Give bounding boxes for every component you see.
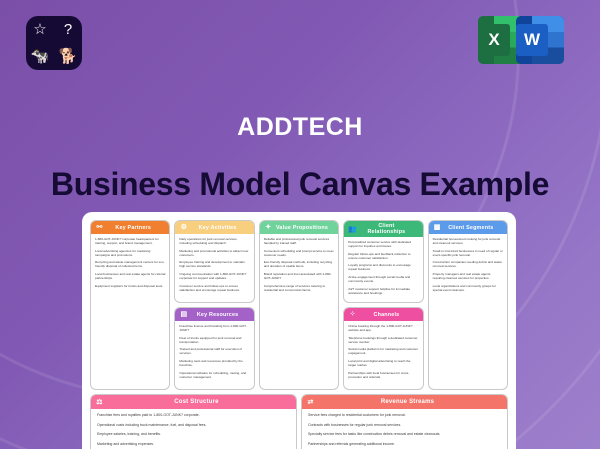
block-channels[interactable]: ⁘ChannelsOnline booking through the 1-80… bbox=[343, 307, 423, 390]
handshake-icon: ⚯ bbox=[95, 223, 104, 232]
block-item: Convenient scheduling and prompt service… bbox=[264, 249, 334, 257]
block-title: Revenue Streams bbox=[318, 399, 503, 405]
block-header-channels: ⁘Channels bbox=[344, 308, 422, 321]
block-item: Franchise fees and royalties paid to 1-8… bbox=[97, 413, 290, 418]
block-key-activities[interactable]: ⚙Key ActivitiesDaily operations for junk… bbox=[174, 220, 254, 303]
block-revenue-streams[interactable]: ⇄Revenue StreamsService fees charged to … bbox=[301, 394, 508, 449]
brand-logo: ☆ ? 🐄 🐕 bbox=[26, 16, 82, 70]
canvas-column-activities-resources: ⚙Key ActivitiesDaily operations for junk… bbox=[174, 220, 254, 390]
block-body-cost-structure: Franchise fees and royalties paid to 1-8… bbox=[91, 409, 296, 449]
people-icon: 👥 bbox=[348, 225, 357, 234]
block-item: Daily operations for junk removal servic… bbox=[179, 237, 249, 245]
block-item: 24/7 customer support helpline for immed… bbox=[348, 287, 418, 295]
block-body-client-relationships: Personalized customer service with dedic… bbox=[344, 237, 422, 298]
block-client-segments[interactable]: ▩Client SegmentsResidential homeowners l… bbox=[428, 220, 508, 390]
block-item: Telephone bookings through a dedicated c… bbox=[348, 336, 418, 344]
block-title: Key Partners bbox=[107, 225, 165, 231]
id-card-icon: ▩ bbox=[433, 223, 442, 232]
word-icon-letter: W bbox=[516, 24, 548, 56]
block-item: Brand reputation and trust associated wi… bbox=[264, 272, 334, 280]
block-value-propositions[interactable]: ✦Value PropositionsReliable and professi… bbox=[259, 220, 339, 390]
block-title: Key Resources bbox=[191, 312, 249, 318]
block-item: Local businesses and real estate agents … bbox=[95, 272, 165, 280]
dog-icon: 🐕 bbox=[59, 49, 78, 64]
block-item: Contracts with businesses for regular ju… bbox=[308, 423, 501, 428]
block-item: Residential homeowners looking for junk … bbox=[433, 237, 503, 245]
database-icon: ▤ bbox=[179, 310, 188, 319]
brand-kicker: ADDTECH bbox=[0, 113, 600, 142]
canvas-column-relationships-channels: 👥Client RelationshipsPersonalized custom… bbox=[343, 220, 423, 390]
block-header-key-activities: ⚙Key Activities bbox=[175, 221, 253, 234]
block-item: Customer service and follow-ups to ensur… bbox=[179, 284, 249, 292]
block-body-key-resources: Franchise license and branding from 1-80… bbox=[175, 321, 253, 382]
block-header-value-propositions: ✦Value Propositions bbox=[260, 221, 338, 234]
canvas-bottom-row: ⚖Cost StructureFranchise fees and royalt… bbox=[90, 394, 508, 449]
block-item: Eco-friendly disposal methods, including… bbox=[264, 260, 334, 268]
block-item: Property managers and real estate agents… bbox=[433, 272, 503, 280]
question-mark-icon: ? bbox=[64, 22, 72, 37]
block-key-resources[interactable]: ▤Key ResourcesFranchise license and bran… bbox=[174, 307, 254, 390]
page-title: Business Model Canvas Example bbox=[0, 166, 600, 203]
block-body-key-partners: 1-800-GOT-JUNK? corporate headquarters f… bbox=[91, 234, 169, 291]
network-icon: ⁘ bbox=[348, 310, 357, 319]
block-item: Local organizations and community groups… bbox=[433, 284, 503, 292]
block-item: Partnerships and referrals generating ad… bbox=[308, 442, 501, 447]
block-body-value-propositions: Reliable and professional junk removal s… bbox=[260, 234, 338, 295]
block-title: Client Segments bbox=[445, 225, 503, 231]
block-item: Employee training and development to mai… bbox=[179, 260, 249, 268]
block-item: Partnerships with local businesses for c… bbox=[348, 371, 418, 379]
block-header-client-relationships: 👥Client Relationships bbox=[344, 221, 422, 237]
canvas-column-client-segments: ▩Client SegmentsResidential homeowners l… bbox=[428, 220, 508, 390]
business-model-canvas: ⚯Key Partners1-800-GOT-JUNK? corporate h… bbox=[82, 212, 516, 449]
money-exchange-icon: ⇄ bbox=[306, 398, 315, 407]
block-header-key-partners: ⚯Key Partners bbox=[91, 221, 169, 234]
block-item: Service fees charged to residential cust… bbox=[308, 413, 501, 418]
block-item: Local print and digital advertising to r… bbox=[348, 359, 418, 367]
block-item: Social media platforms for marketing and… bbox=[348, 347, 418, 355]
canvas-top-row: ⚯Key Partners1-800-GOT-JUNK? corporate h… bbox=[90, 220, 508, 390]
block-item: Ongoing communication with 1-800-GOT-JUN… bbox=[179, 272, 249, 280]
block-item: Comprehensive range of services catering… bbox=[264, 284, 334, 292]
poster-canvas: ☆ ? 🐄 🐕 X W ADDTECH Business Model Canva… bbox=[0, 0, 600, 449]
block-title: Value Propositions bbox=[276, 225, 334, 231]
block-item: Fleet of trucks equipped for junk remova… bbox=[179, 336, 249, 344]
person-gear-icon: ⚙ bbox=[179, 223, 188, 232]
excel-icon-letter: X bbox=[478, 24, 510, 56]
block-item: Small to mid-sized businesses in need of… bbox=[433, 249, 503, 257]
block-item: Marketing tools and resources provided b… bbox=[179, 359, 249, 367]
block-item: Operational costs including truck mainte… bbox=[97, 423, 290, 428]
block-header-key-resources: ▤Key Resources bbox=[175, 308, 253, 321]
block-item: Personalized customer service with dedic… bbox=[348, 240, 418, 248]
block-header-cost-structure: ⚖Cost Structure bbox=[91, 395, 296, 409]
scales-icon: ⚖ bbox=[95, 398, 104, 407]
canvas-column-value-propositions: ✦Value PropositionsReliable and professi… bbox=[259, 220, 339, 390]
star-icon: ☆ bbox=[33, 22, 46, 37]
block-item: Local advertising agencies for marketing… bbox=[95, 249, 165, 257]
block-body-client-segments: Residential homeowners looking for junk … bbox=[429, 234, 507, 295]
block-item: Recycling and waste management centers f… bbox=[95, 260, 165, 268]
block-item: Construction companies needing debris an… bbox=[433, 260, 503, 268]
block-item: Marketing and promotional activities to … bbox=[179, 249, 249, 257]
word-icon[interactable]: W bbox=[516, 16, 564, 64]
block-item: Active engagement through social media a… bbox=[348, 275, 418, 283]
block-client-relationships[interactable]: 👥Client RelationshipsPersonalized custom… bbox=[343, 220, 423, 303]
block-body-channels: Online booking through the 1-800-GOT-JUN… bbox=[344, 321, 422, 382]
block-cost-structure[interactable]: ⚖Cost StructureFranchise fees and royalt… bbox=[90, 394, 297, 449]
block-item: Marketing and advertising expenses. bbox=[97, 442, 290, 447]
block-item: Online booking through the 1-800-GOT-JUN… bbox=[348, 324, 418, 332]
block-item: 1-800-GOT-JUNK? corporate headquarters f… bbox=[95, 237, 165, 245]
block-title: Client Relationships bbox=[360, 223, 418, 235]
block-item: Regular follow-ups and feedback collecti… bbox=[348, 252, 418, 260]
block-item: Employee salaries, training, and benefit… bbox=[97, 432, 290, 437]
block-item: Equipment suppliers for trucks and dispo… bbox=[95, 284, 165, 288]
block-body-key-activities: Daily operations for junk removal servic… bbox=[175, 234, 253, 295]
block-item: Operational software for scheduling, rou… bbox=[179, 371, 249, 379]
block-header-revenue-streams: ⇄Revenue Streams bbox=[302, 395, 507, 409]
block-title: Cost Structure bbox=[107, 399, 292, 405]
cow-icon: 🐄 bbox=[31, 49, 50, 64]
block-key-partners[interactable]: ⚯Key Partners1-800-GOT-JUNK? corporate h… bbox=[90, 220, 170, 390]
block-item: Reliable and professional junk removal s… bbox=[264, 237, 334, 245]
block-item: Franchise license and branding from 1-80… bbox=[179, 324, 249, 332]
canvas-column-key-partners: ⚯Key Partners1-800-GOT-JUNK? corporate h… bbox=[90, 220, 170, 390]
block-header-client-segments: ▩Client Segments bbox=[429, 221, 507, 234]
block-item: Trained and professional staff for execu… bbox=[179, 347, 249, 355]
block-body-revenue-streams: Service fees charged to residential cust… bbox=[302, 409, 507, 449]
block-item: Specialty service fees for tasks like co… bbox=[308, 432, 501, 437]
block-item: Loyalty programs and discounts to encour… bbox=[348, 263, 418, 271]
block-title: Key Activities bbox=[191, 225, 249, 231]
block-title: Channels bbox=[360, 312, 418, 318]
gift-icon: ✦ bbox=[264, 223, 273, 232]
